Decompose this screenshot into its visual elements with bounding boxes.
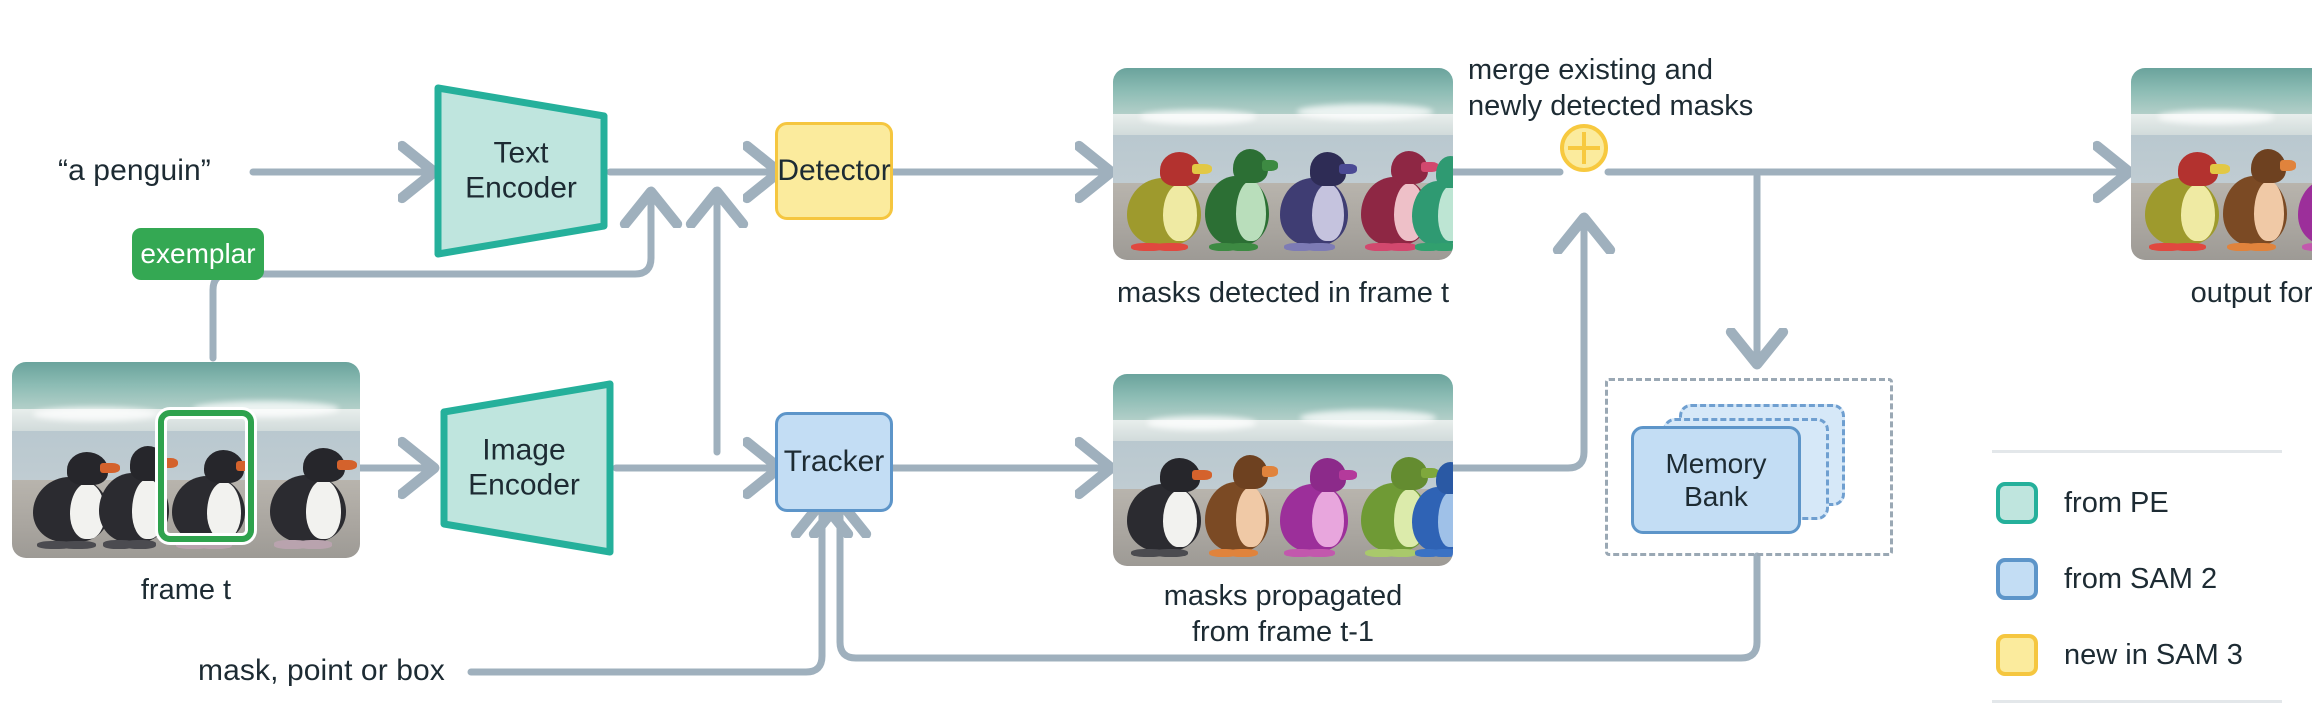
penguin: [270, 448, 347, 542]
memory-bank-node[interactable]: Memory Bank: [1631, 426, 1801, 534]
output-image: [2131, 68, 2312, 260]
legend-item-sam2: from SAM 2: [1996, 558, 2217, 600]
exemplar-chip[interactable]: exemplar: [132, 228, 264, 280]
masked-penguin: [1127, 152, 1202, 244]
diagram-canvas: “a penguin” Text Encoder Image Encoder D…: [0, 0, 2312, 728]
masked-penguin: [1205, 455, 1270, 551]
masked-penguin: [1205, 149, 1270, 245]
masked-penguin: [1280, 152, 1348, 244]
masked-penguin: [1280, 458, 1348, 550]
text-encoder-node[interactable]: Text Encoder: [430, 82, 612, 260]
legend-divider-bottom: [1992, 700, 2282, 703]
masked-penguin: [1412, 462, 1453, 550]
legend-item-pe: from PE: [1996, 482, 2169, 524]
memory-bank-label: Memory Bank: [1665, 447, 1766, 513]
propagated-masks-caption: masks propagated from frame t-1: [1083, 578, 1483, 651]
legend-label-pe: from PE: [2064, 487, 2169, 520]
legend-swatch-sam2-icon: [1996, 558, 2038, 600]
frame-t-caption: frame t: [12, 572, 360, 608]
legend-label-sam3: new in SAM 3: [2064, 639, 2243, 672]
unmasked-penguin: [1127, 458, 1202, 550]
merge-note-label: merge existing and newly detected masks: [1468, 52, 1858, 125]
masked-penguin: [1412, 156, 1453, 244]
output-caption: output for frame t: [2081, 275, 2312, 311]
tracker-label: Tracker: [784, 444, 885, 479]
detector-label: Detector: [777, 153, 890, 188]
legend-swatch-sam3-icon: [1996, 634, 2038, 676]
legend-swatch-pe-icon: [1996, 482, 2038, 524]
visual-prompt-label: mask, point or box: [198, 653, 445, 690]
detector-node[interactable]: Detector: [775, 122, 893, 220]
legend-item-sam3: new in SAM 3: [1996, 634, 2243, 676]
legend: from PE from SAM 2 new in SAM 3: [1992, 450, 2282, 702]
masked-penguin: [2145, 152, 2220, 244]
legend-divider-top: [1992, 450, 2282, 453]
legend-label-sam2: from SAM 2: [2064, 563, 2217, 596]
masked-penguin: [2223, 149, 2288, 245]
text-prompt-label: “a penguin”: [58, 153, 211, 190]
merge-plus-icon[interactable]: [1560, 124, 1608, 172]
penguin: [33, 452, 110, 542]
detected-masks-caption: masks detected in frame t: [1063, 275, 1503, 311]
image-encoder-node[interactable]: Image Encoder: [430, 378, 618, 558]
exemplar-bounding-box: [158, 410, 254, 542]
memory-bank-group: Memory Bank: [1605, 378, 1893, 556]
tracker-node[interactable]: Tracker: [775, 412, 893, 512]
propagated-masks-image: [1113, 374, 1453, 566]
detected-masks-image: [1113, 68, 1453, 260]
masked-penguin: [2298, 152, 2312, 244]
